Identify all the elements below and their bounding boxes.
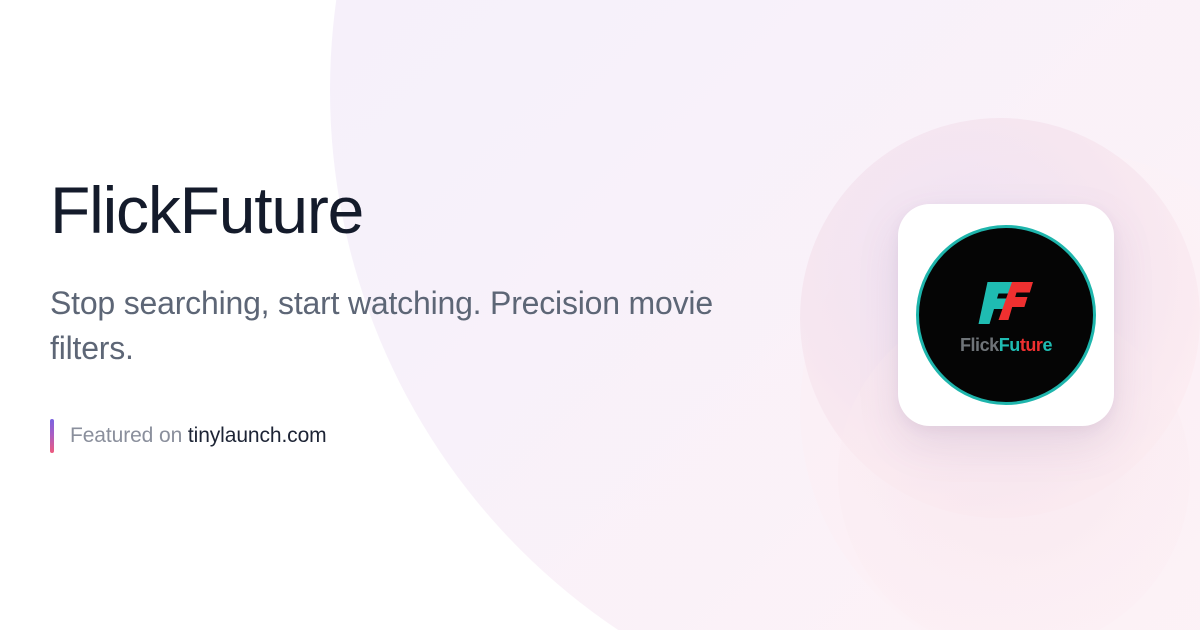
logo-circle: FlickFuture bbox=[916, 225, 1096, 405]
wordmark-part-fu: Fu bbox=[999, 335, 1020, 355]
wordmark-part-flick: Flick bbox=[960, 335, 999, 355]
page-subtitle: Stop searching, start watching. Precisio… bbox=[50, 281, 740, 372]
featured-label: Featured on tinylaunch.com bbox=[70, 424, 327, 448]
wordmark-part-tur: tur bbox=[1020, 335, 1043, 355]
page-title: FlickFuture bbox=[50, 177, 810, 243]
featured-prefix: Featured on bbox=[70, 424, 188, 447]
logo-wordmark: FlickFuture bbox=[960, 336, 1052, 354]
og-share-card: FlickFuture Stop searching, start watchi… bbox=[0, 0, 1200, 630]
app-logo-card[interactable]: FlickFuture bbox=[898, 204, 1114, 426]
featured-badge: Featured on tinylaunch.com bbox=[50, 419, 810, 453]
accent-bar bbox=[50, 419, 54, 453]
featured-domain-link[interactable]: tinylaunch.com bbox=[188, 424, 327, 447]
wordmark-part-e: e bbox=[1042, 335, 1052, 355]
ff-monogram-icon bbox=[973, 277, 1039, 329]
hero-content: FlickFuture Stop searching, start watchi… bbox=[50, 0, 810, 630]
